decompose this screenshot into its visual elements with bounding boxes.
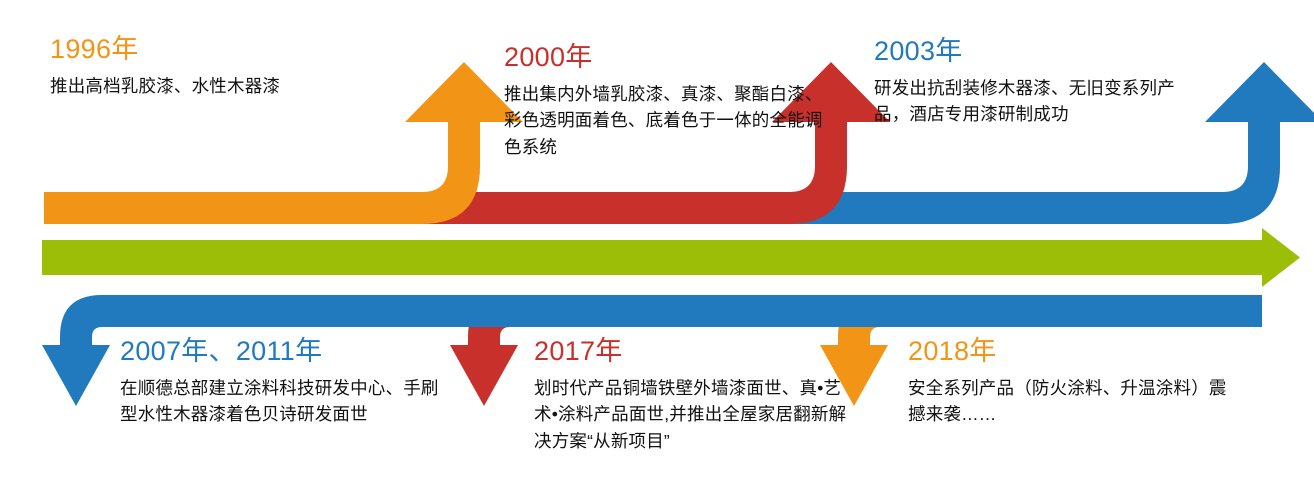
main-timeline-arrow <box>42 228 1300 287</box>
timeline-infographic: 1996年 推出高档乳胶漆、水性木器漆 2000年 推出集内外墙乳胶漆、真漆、聚… <box>0 0 1314 494</box>
entry-desc-2003: 研发出抗刮装修木器漆、无旧变系列产品，酒店专用漆研制成功 <box>874 75 1192 128</box>
entry-desc-2018: 安全系列产品（防火涂料、升温涂料）震撼来袭…… <box>908 375 1228 428</box>
entry-year-2007-2011: 2007年、2011年 <box>120 336 450 368</box>
timeline-entry-2017: 2017年 划时代产品铜墙铁壁外墙漆面世、真•艺术•涂料产品面世,并推出全屋家居… <box>534 336 854 455</box>
timeline-entry-1996: 1996年 推出高档乳胶漆、水性木器漆 <box>50 34 450 99</box>
entry-year-2000: 2000年 <box>504 42 824 74</box>
entry-desc-2000: 推出集内外墙乳胶漆、真漆、聚酯白漆、彩色透明面着色、底着色于一体的全能调色系统 <box>504 81 824 161</box>
timeline-entry-2000: 2000年 推出集内外墙乳胶漆、真漆、聚酯白漆、彩色透明面着色、底着色于一体的全… <box>504 42 824 161</box>
entry-year-2018: 2018年 <box>908 336 1228 368</box>
entry-year-1996: 1996年 <box>50 34 450 66</box>
entry-desc-1996: 推出高档乳胶漆、水性木器漆 <box>50 73 450 100</box>
timeline-entry-2007-2011: 2007年、2011年 在顺德总部建立涂料科技研发中心、手刷型水性木器漆着色贝诗… <box>120 336 450 428</box>
entry-year-2017: 2017年 <box>534 336 854 368</box>
entry-desc-2017: 划时代产品铜墙铁壁外墙漆面世、真•艺术•涂料产品面世,并推出全屋家居翻新解决方案… <box>534 375 854 455</box>
timeline-entry-2003: 2003年 研发出抗刮装修木器漆、无旧变系列产品，酒店专用漆研制成功 <box>874 36 1192 128</box>
entry-desc-2007-2011: 在顺德总部建立涂料科技研发中心、手刷型水性木器漆着色贝诗研发面世 <box>120 375 450 428</box>
entry-year-2003: 2003年 <box>874 36 1192 68</box>
timeline-entry-2018: 2018年 安全系列产品（防火涂料、升温涂料）震撼来袭…… <box>908 336 1228 428</box>
